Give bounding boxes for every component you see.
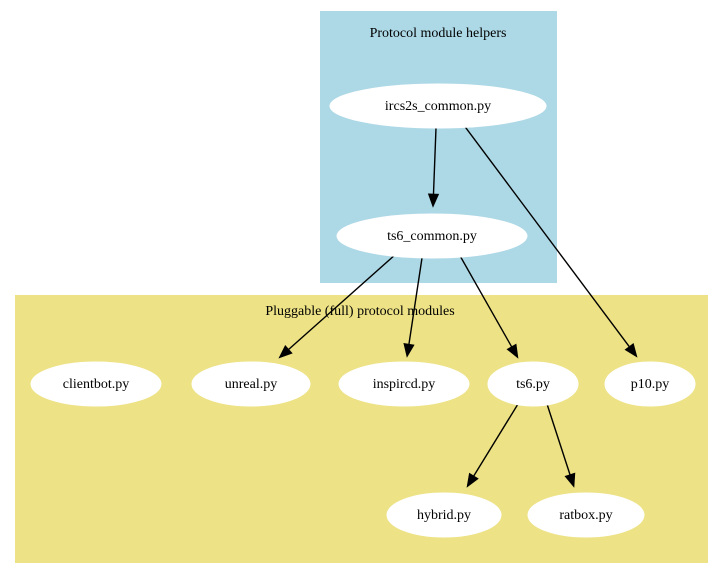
node-inspircd[interactable]: inspircd.py [339, 362, 469, 406]
diagram-canvas: Protocol module helpersPluggable (full) … [0, 0, 723, 580]
node-ratbox[interactable]: ratbox.py [528, 493, 644, 537]
node-label-clientbot: clientbot.py [63, 377, 130, 392]
node-unreal[interactable]: unreal.py [192, 362, 310, 406]
node-ts6_common[interactable]: ts6_common.py [337, 214, 527, 258]
graph-svg: Protocol module helpersPluggable (full) … [0, 0, 723, 580]
node-label-ts6: ts6.py [516, 377, 550, 392]
node-ts6[interactable]: ts6.py [488, 362, 578, 406]
node-label-hybrid: hybrid.py [417, 508, 471, 523]
node-label-unreal: unreal.py [225, 377, 277, 392]
node-ircs2s_common[interactable]: ircs2s_common.py [330, 84, 546, 128]
node-label-ts6_common: ts6_common.py [387, 229, 477, 244]
node-clientbot[interactable]: clientbot.py [31, 362, 161, 406]
cluster-label-helpers: Protocol module helpers [370, 26, 507, 41]
node-hybrid[interactable]: hybrid.py [387, 493, 501, 537]
node-label-ircs2s_common: ircs2s_common.py [385, 99, 491, 114]
node-label-p10: p10.py [631, 377, 670, 392]
node-p10[interactable]: p10.py [605, 362, 695, 406]
node-label-ratbox: ratbox.py [559, 508, 612, 523]
cluster-label-pluggable: Pluggable (full) protocol modules [265, 304, 454, 319]
node-label-inspircd: inspircd.py [373, 377, 436, 392]
